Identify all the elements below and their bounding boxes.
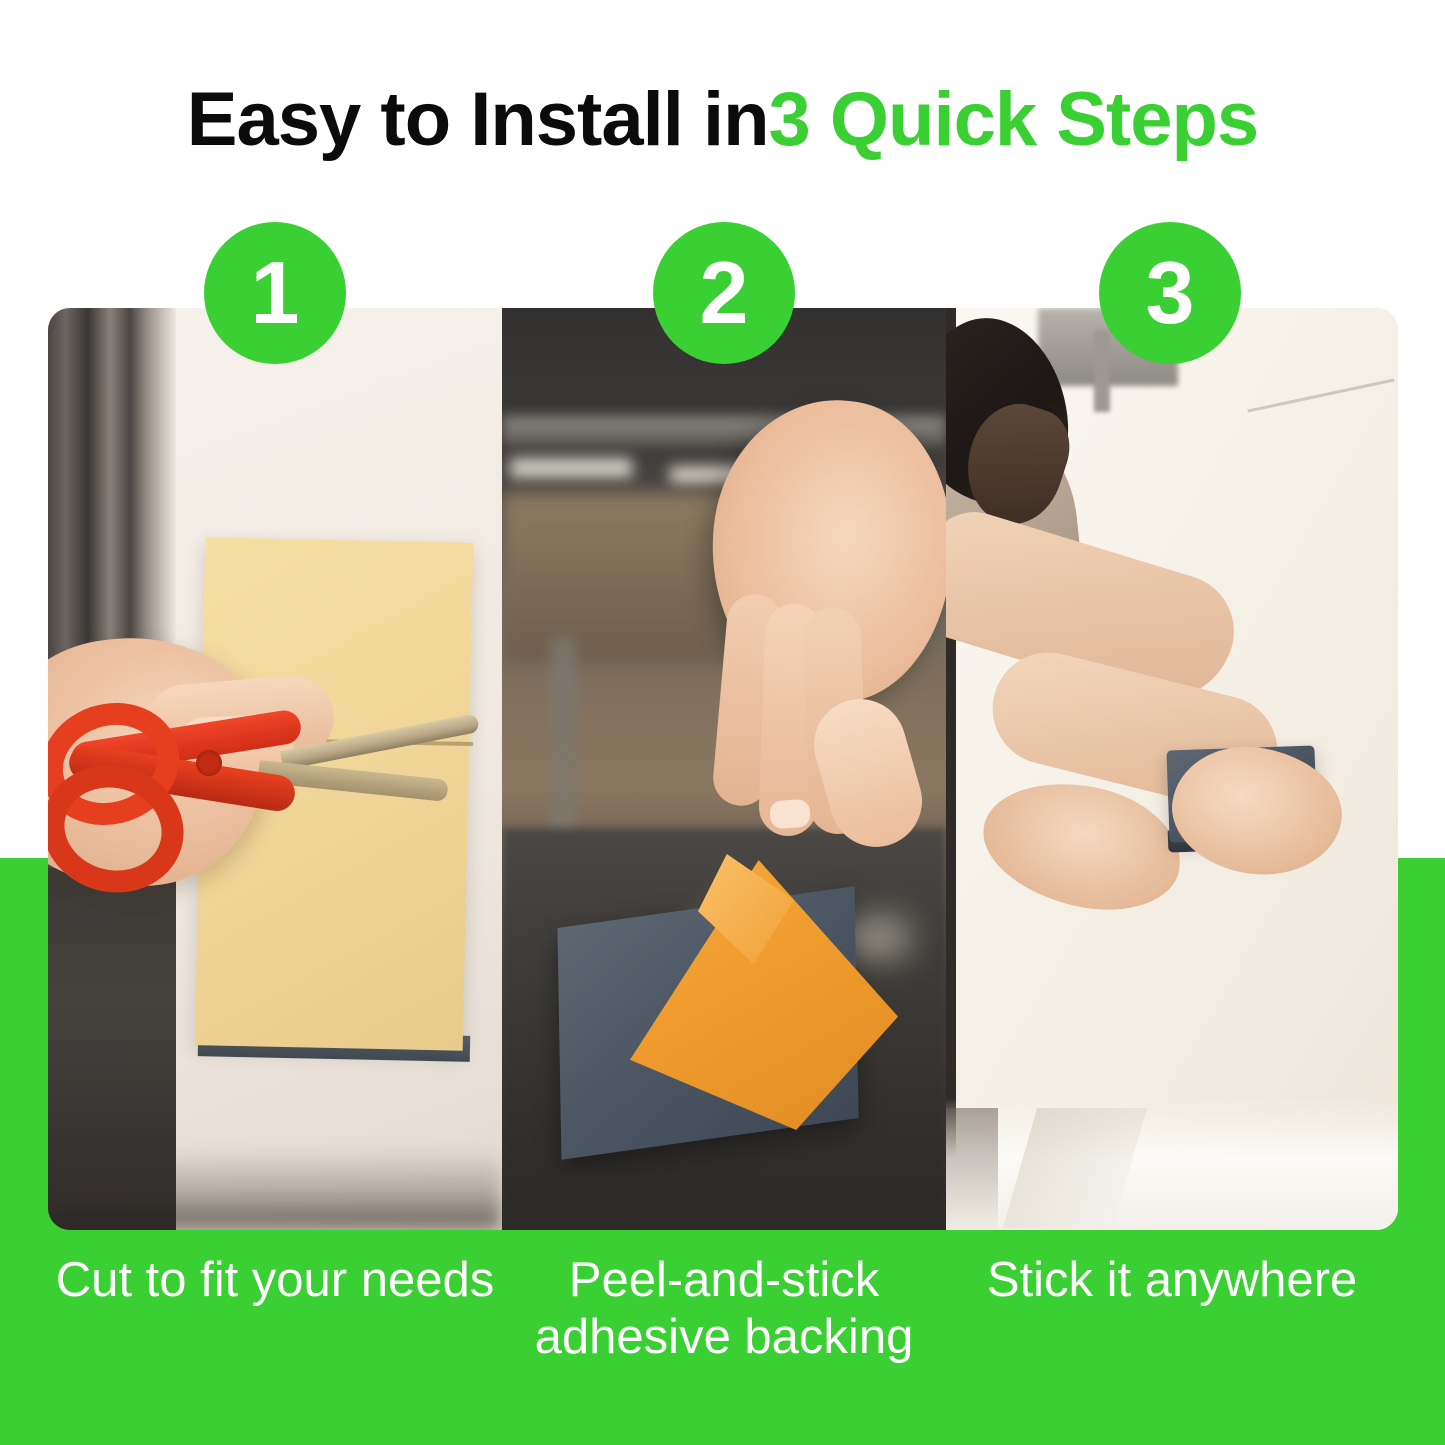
step-caption-3: Stick it anywhere	[946, 1252, 1398, 1366]
step-badge-3: 3	[1099, 222, 1241, 364]
step-caption-1: Cut to fit your needs	[48, 1252, 502, 1366]
p1-scissor-pivot	[196, 750, 222, 776]
step-photo-2	[502, 308, 946, 1230]
step-caption-2: Peel-and-stick adhesive backing	[502, 1252, 946, 1366]
page-title-accent: 3 Quick Steps	[769, 82, 1259, 158]
page-title: Easy to Install in 3 Quick Steps	[0, 82, 1445, 158]
p3-shelf-bracket	[1094, 330, 1110, 412]
steps-photo-strip	[48, 308, 1398, 1230]
p3-corner-shadow	[946, 1108, 998, 1230]
p2-fingernail	[769, 799, 811, 830]
page-title-plain: Easy to Install in	[187, 82, 769, 158]
step-badge-2: 2	[653, 222, 795, 364]
step-badge-1: 1	[204, 222, 346, 364]
step-captions: Cut to fit your needs Peel-and-stick adh…	[48, 1252, 1398, 1366]
p2-light-left	[510, 458, 632, 478]
step-photo-3	[946, 308, 1398, 1230]
p2-column	[550, 638, 576, 848]
step-photo-1	[48, 308, 502, 1230]
p1-floor-shadow	[48, 1148, 502, 1230]
